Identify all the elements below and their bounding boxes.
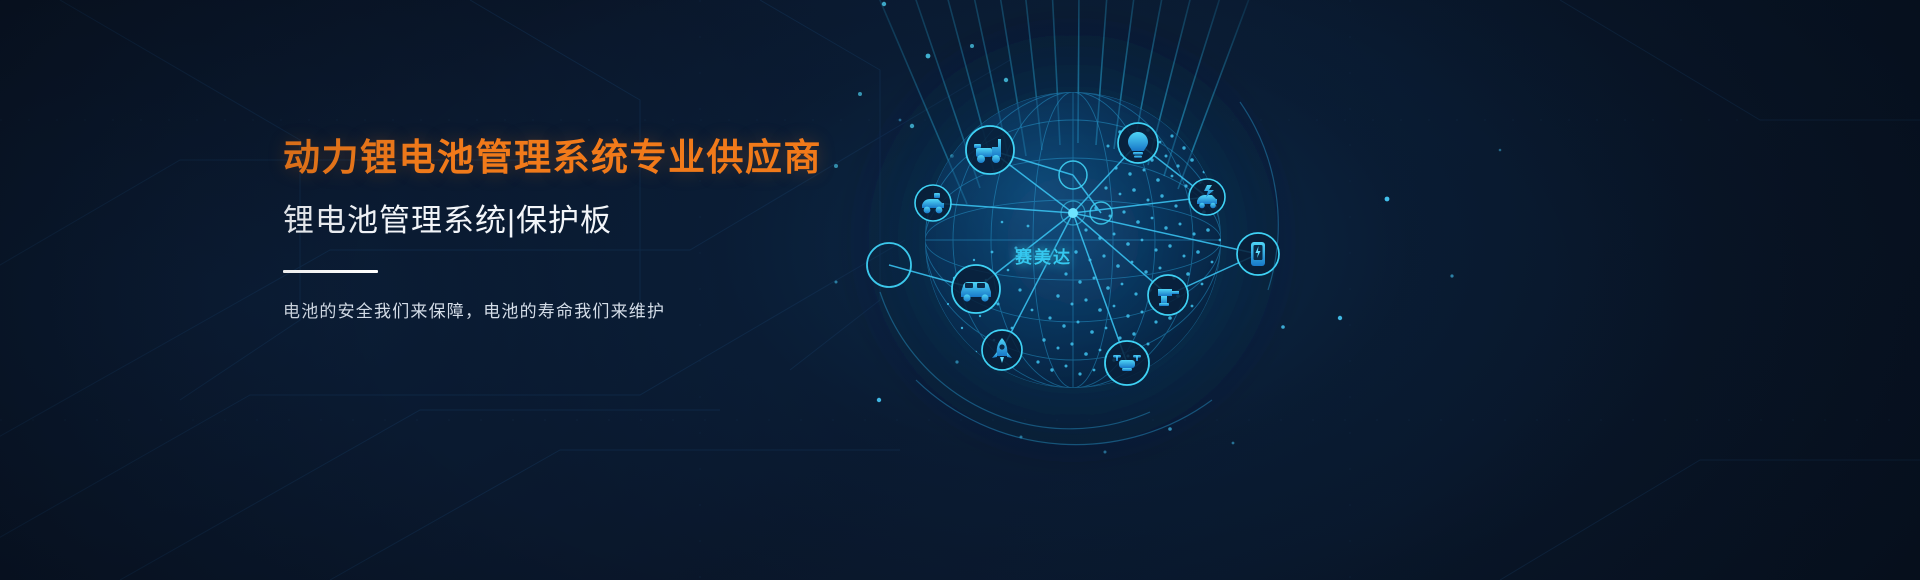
scooter-node-icon bbox=[966, 126, 1014, 174]
banner-tagline: 电池的安全我们来保障，电池的寿命我们来维护 bbox=[283, 299, 903, 325]
rocket-node-icon bbox=[982, 330, 1022, 370]
banner-copy: 动力锂电池管理系统专业供应商 锂电池管理系统|保护板 电池的安全我们来保障，电池… bbox=[283, 136, 903, 325]
page-title: 动力锂电池管理系统专业供应商 bbox=[283, 136, 903, 180]
banner-subtitle: 锂电池管理系统|保护板 bbox=[283, 202, 903, 240]
delivery-bike-node-icon bbox=[915, 185, 951, 221]
phone-battery-node-icon bbox=[1237, 233, 1279, 275]
globe-network-graphic bbox=[820, 0, 1520, 580]
drone-node-icon bbox=[1105, 341, 1149, 385]
power-tool-node-icon bbox=[1148, 275, 1188, 315]
car-node-icon bbox=[952, 265, 1000, 313]
bulb-node-icon bbox=[1118, 123, 1158, 163]
ev-charger-node-icon bbox=[1189, 179, 1225, 215]
hero-banner: 动力锂电池管理系统专业供应商 锂电池管理系统|保护板 电池的安全我们来保障，电池… bbox=[0, 0, 1920, 580]
globe-brand-mark: 赛美达 bbox=[1015, 243, 1072, 268]
title-divider bbox=[283, 270, 378, 273]
